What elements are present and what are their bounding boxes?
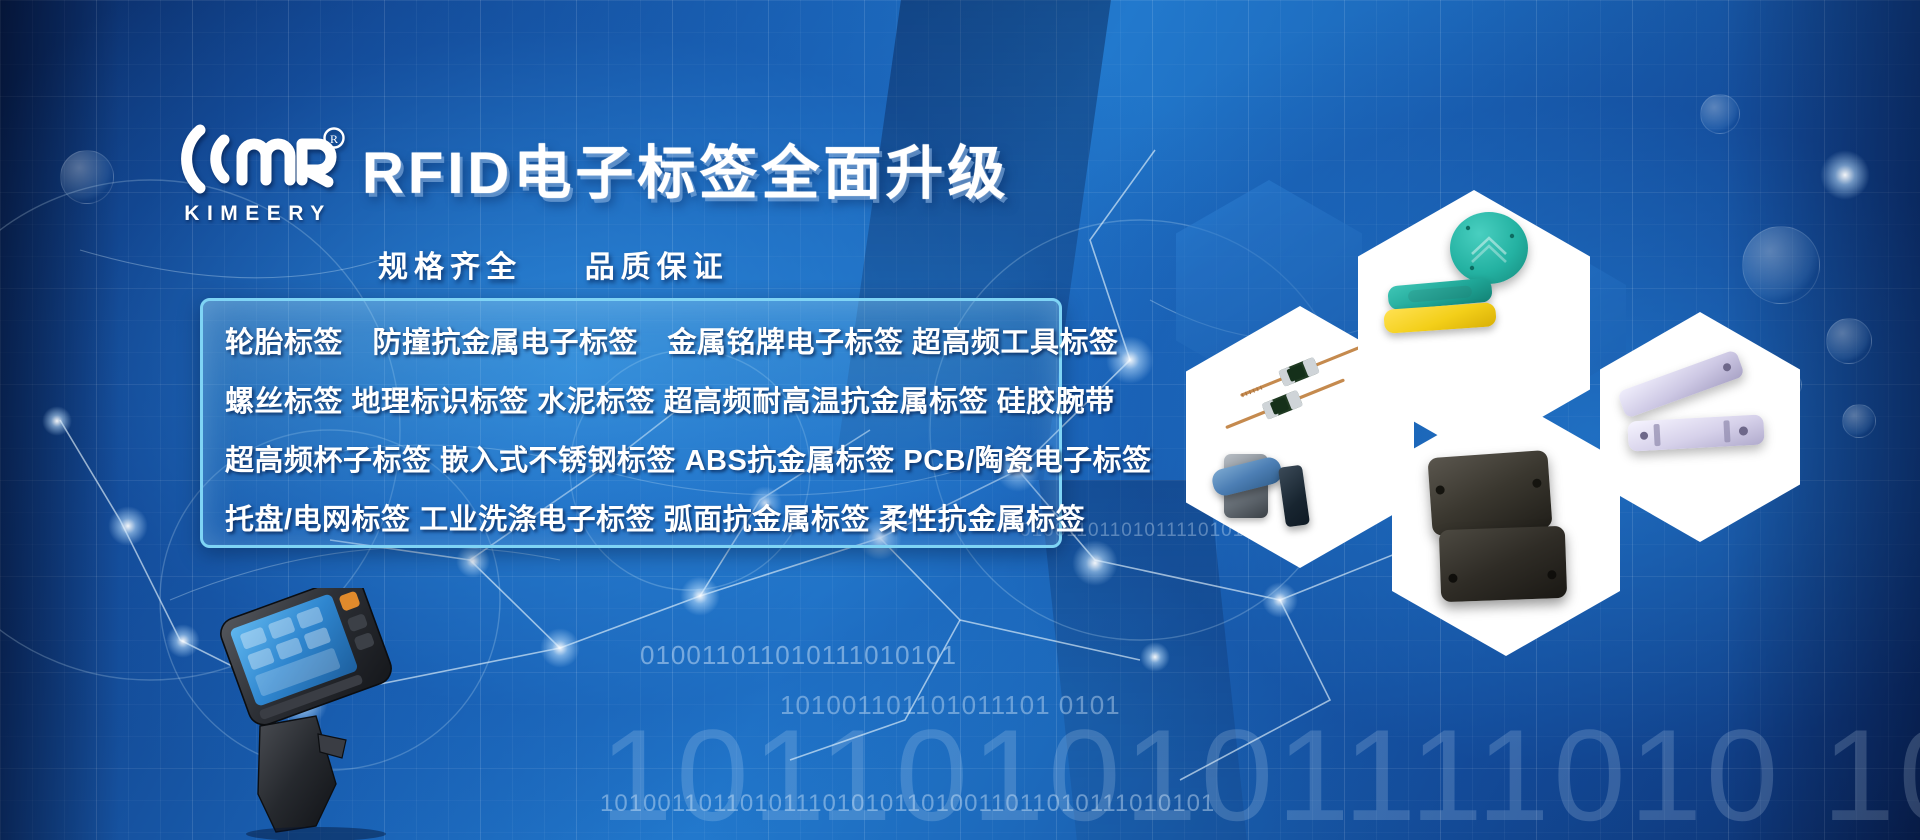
handheld-reader-art [196,588,446,840]
handheld-rfid-reader[interactable] [196,588,446,840]
subtitle-left: 规格齐全 [378,251,522,284]
tag-row: 轮胎标签 防撞抗金属电子标签 金属铭牌电子标签 超高频工具标签 [203,314,1059,373]
product-tag-list-box: 轮胎标签 防撞抗金属电子标签 金属铭牌电子标签 超高频工具标签 螺丝标签 地理标… [200,298,1062,548]
tag-row: 螺丝标签 地理标识标签 水泥标签 超高频耐高温抗金属标签 硅胶腕带 [203,373,1059,432]
rfid-promo-banner: 010011011010111010101 101001101101011101… [0,0,1920,840]
bokeh-circle [1826,318,1872,364]
chevron-emboss-icon [1450,212,1528,284]
brand-name: KIMEERY [168,202,348,226]
binary-text-large: 1011010101111010 10 [600,700,1920,840]
headline: RFID电子标签全面升级 [362,126,1009,210]
kmr-wave-mark-icon: R [168,118,348,200]
tag-row: 托盘/电网标签 工业洗涤电子标签 弧面抗金属标签 柔性抗金属标签 [203,491,1059,550]
binary-text: 1010011011010111010101101001101101011101… [600,790,1215,818]
svg-text:R: R [330,132,338,146]
lavender-bar-tag-2 [1627,414,1764,451]
bokeh-circle [1742,226,1820,304]
lavender-bar-tag [1617,349,1745,418]
bokeh-circle [60,150,114,204]
kimeery-logo[interactable]: R KIMEERY [168,118,348,234]
dark-rectangular-tag-2 [1439,526,1567,602]
tag-row: 超高频杯子标签 嵌入式不锈钢标签 ABS抗金属标签 PCB/陶瓷电子标签 [203,432,1059,491]
bokeh-circle [1700,94,1740,134]
subtitle-right: 品质保证 [585,251,729,284]
bokeh-circle [1842,404,1876,438]
teal-round-disc-tag [1450,212,1528,284]
dark-rectangular-tag [1427,450,1552,536]
subtitle: 规格齐全 品质保证 [378,242,729,286]
binary-text: 010011011010111010101 [640,640,957,671]
